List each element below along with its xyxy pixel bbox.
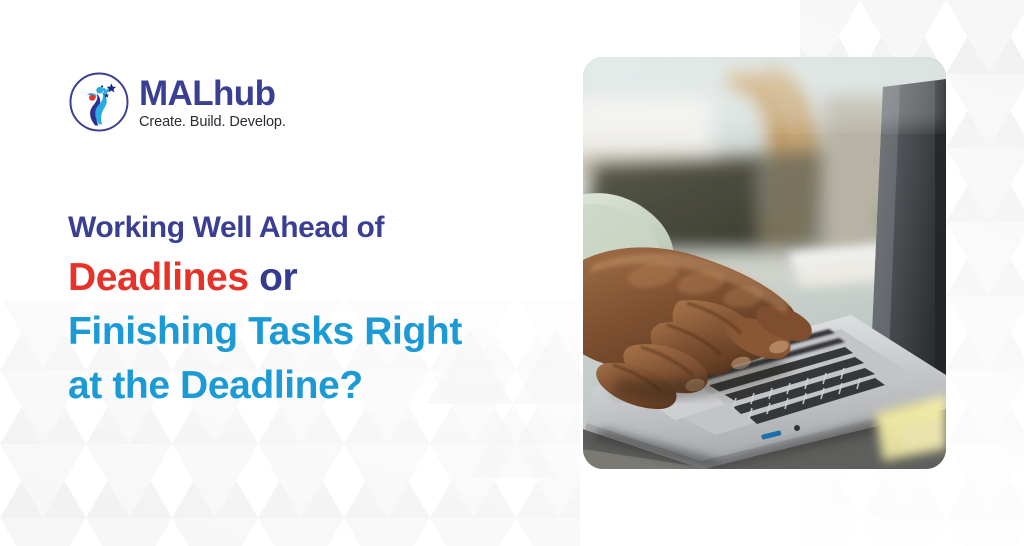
headline-line-2: Deadlines or xyxy=(68,251,538,305)
headline-line-3: Finishing Tasks Right xyxy=(68,305,538,359)
promo-banner: MALhub Create. Build. Develop. Working W… xyxy=(0,0,1024,546)
logo-text-block: MALhub Create. Build. Develop. xyxy=(139,74,286,129)
headline-highlight-deadlines: Deadlines xyxy=(68,256,249,299)
headline-conjunction: or xyxy=(249,256,298,299)
logo-wordmark: MALhub xyxy=(139,76,286,112)
headline-block: Working Well Ahead of Deadlines or Finis… xyxy=(68,205,538,413)
brand-logo[interactable]: MALhub Create. Build. Develop. xyxy=(68,71,286,133)
headline-line-1: Working Well Ahead of xyxy=(68,205,538,251)
malhub-emblem-icon xyxy=(68,71,130,133)
logo-tagline: Create. Build. Develop. xyxy=(139,115,286,130)
headline-line-4: at the Deadline? xyxy=(68,359,538,413)
hero-photo-hands-typing-laptop xyxy=(583,57,946,469)
